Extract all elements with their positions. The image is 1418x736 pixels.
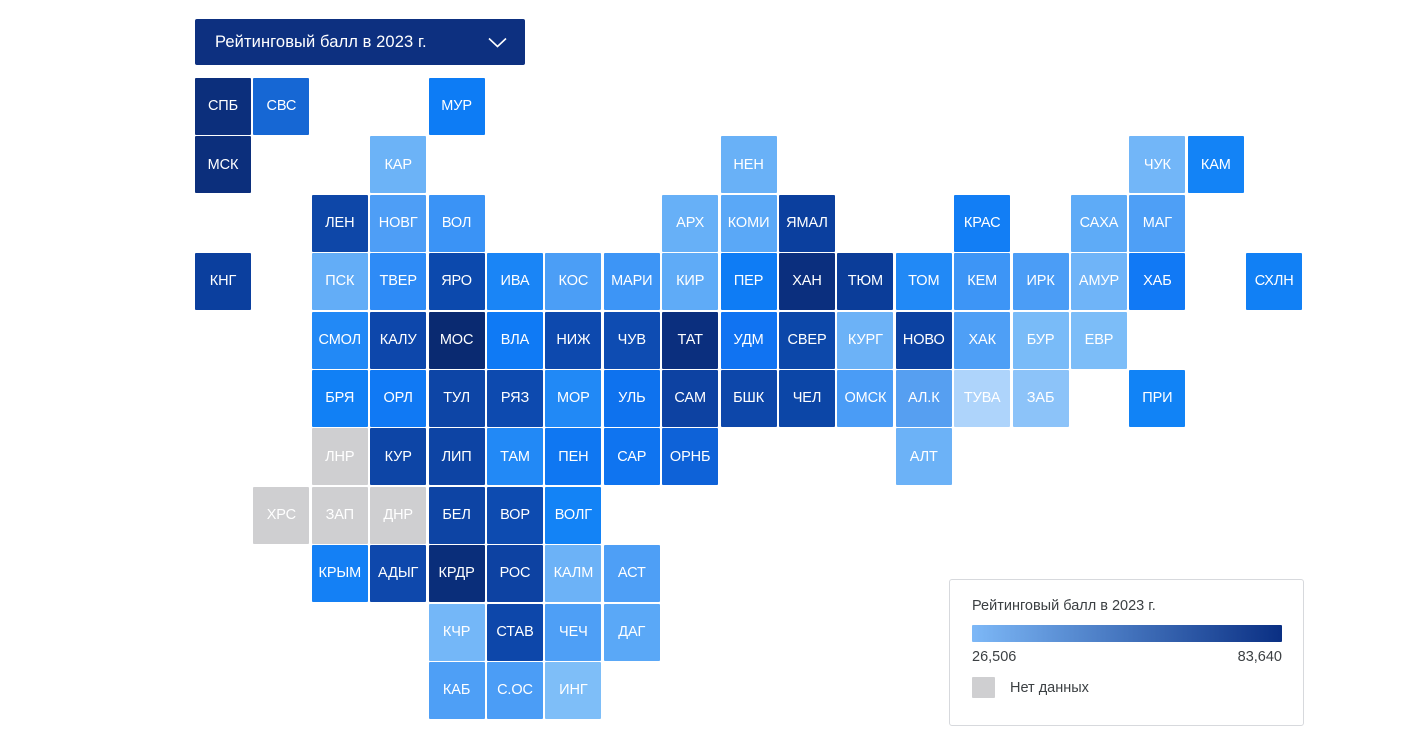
region-tile-МОС[interactable]: МОС bbox=[429, 312, 485, 369]
region-tile-label: ОРЛ bbox=[384, 391, 413, 406]
region-tile-КАЛУ[interactable]: КАЛУ bbox=[370, 312, 426, 369]
region-tile-label: ЧЕЛ bbox=[793, 391, 822, 406]
region-tile-label: ТУЛ bbox=[443, 391, 470, 406]
region-tile-label: ИРК bbox=[1026, 274, 1054, 289]
legend-nodata-swatch bbox=[972, 677, 995, 698]
region-tile-ВОР[interactable]: ВОР bbox=[487, 487, 543, 544]
region-tile-БУР[interactable]: БУР bbox=[1013, 312, 1069, 369]
region-tile-КРЫМ[interactable]: КРЫМ bbox=[312, 545, 368, 602]
region-tile-МОР[interactable]: МОР bbox=[545, 370, 601, 427]
region-tile-label: КУР bbox=[385, 450, 412, 465]
region-tile-label: МАРИ bbox=[611, 274, 652, 289]
region-tile-label: САМ bbox=[674, 391, 706, 406]
region-tile-label: СТАВ bbox=[496, 625, 533, 640]
region-tile-label: ТАТ bbox=[677, 333, 702, 348]
region-tile-label: СВЕР bbox=[787, 333, 826, 348]
region-tile-КОМИ[interactable]: КОМИ bbox=[721, 195, 777, 252]
region-tile-label: ДАГ bbox=[618, 625, 645, 640]
region-tile-label: ИВА bbox=[501, 274, 530, 289]
region-tile-label: КАЛМ bbox=[554, 566, 594, 581]
region-tile-label: РОС bbox=[500, 566, 531, 581]
region-tile-label: ВОР bbox=[500, 508, 530, 523]
legend-min-value: 26,506 bbox=[972, 649, 1016, 665]
region-tile-label: КРЫМ bbox=[318, 566, 361, 581]
region-tile-СПБ[interactable]: СПБ bbox=[195, 78, 251, 135]
region-tile-label: СВС bbox=[266, 99, 296, 114]
region-tile-label: КАБ bbox=[443, 683, 470, 698]
region-tile-ЗАБ[interactable]: ЗАБ bbox=[1013, 370, 1069, 427]
region-tile-label: ДНР bbox=[383, 508, 413, 523]
region-tile-label: ВОЛГ bbox=[555, 508, 592, 523]
region-tile-label: КОМИ bbox=[728, 216, 770, 231]
region-tile-РЯЗ[interactable]: РЯЗ bbox=[487, 370, 543, 427]
region-tile-ХАК[interactable]: ХАК bbox=[954, 312, 1010, 369]
region-tile-label: КОС bbox=[559, 274, 589, 289]
region-tile-ПСК[interactable]: ПСК bbox=[312, 253, 368, 310]
region-tile-СВЕР[interactable]: СВЕР bbox=[779, 312, 835, 369]
region-tile-ЯМАЛ[interactable]: ЯМАЛ bbox=[779, 195, 835, 252]
region-tile-САР[interactable]: САР bbox=[604, 428, 660, 485]
region-tile-С.ОС[interactable]: С.ОС bbox=[487, 662, 543, 719]
legend-max-value: 83,640 bbox=[1238, 649, 1282, 665]
region-tile-label: ВОЛ bbox=[442, 216, 472, 231]
region-tile-label: ТАМ bbox=[500, 450, 530, 465]
region-tile-label: БШК bbox=[733, 391, 764, 406]
region-tile-НОВГ[interactable]: НОВГ bbox=[370, 195, 426, 252]
legend-scale: 26,506 83,640 bbox=[972, 649, 1282, 665]
region-tile-label: МСК bbox=[208, 158, 239, 173]
region-tile-label: МОС bbox=[440, 333, 474, 348]
region-tile-label: КУРГ bbox=[848, 333, 883, 348]
region-tile-label: ЛИП bbox=[442, 450, 472, 465]
legend-nodata: Нет данных bbox=[972, 677, 1281, 698]
region-tile-label: ОМСК bbox=[844, 391, 886, 406]
region-tile-label: БРЯ bbox=[325, 391, 354, 406]
region-tile-label: ИНГ bbox=[559, 683, 587, 698]
region-tile-label: КИР bbox=[676, 274, 704, 289]
region-tile-label: СМОЛ bbox=[318, 333, 361, 348]
region-tile-ХАБ[interactable]: ХАБ bbox=[1129, 253, 1185, 310]
region-tile-СВС[interactable]: СВС bbox=[253, 78, 309, 135]
region-tile-КЕМ[interactable]: КЕМ bbox=[954, 253, 1010, 310]
region-tile-label: ТОМ bbox=[908, 274, 939, 289]
region-tile-ХРС[interactable]: ХРС bbox=[253, 487, 309, 544]
region-tile-ЧУК[interactable]: ЧУК bbox=[1129, 136, 1185, 193]
region-tile-label: МАГ bbox=[1143, 216, 1172, 231]
region-tile-ЧЕЛ[interactable]: ЧЕЛ bbox=[779, 370, 835, 427]
chevron-down-icon bbox=[488, 37, 507, 48]
region-tile-label: ХАК bbox=[968, 333, 996, 348]
region-tile-label: УЛЬ bbox=[618, 391, 645, 406]
region-tile-КАМ[interactable]: КАМ bbox=[1188, 136, 1244, 193]
region-tile-label: РЯЗ bbox=[501, 391, 529, 406]
region-tile-label: ЛЕН bbox=[325, 216, 354, 231]
region-tile-label: КАЛУ bbox=[380, 333, 417, 348]
region-tile-label: УДМ bbox=[734, 333, 764, 348]
region-tile-ВОЛ[interactable]: ВОЛ bbox=[429, 195, 485, 252]
map-legend: Рейтинговый балл в 2023 г. 26,506 83,640… bbox=[949, 579, 1304, 726]
region-tile-АМУР[interactable]: АМУР bbox=[1071, 253, 1127, 310]
region-tile-МСК[interactable]: МСК bbox=[195, 136, 251, 193]
region-tile-ТУЛ[interactable]: ТУЛ bbox=[429, 370, 485, 427]
region-tile-КУР[interactable]: КУР bbox=[370, 428, 426, 485]
region-tile-ОРНБ[interactable]: ОРНБ bbox=[662, 428, 718, 485]
region-tile-ИВА[interactable]: ИВА bbox=[487, 253, 543, 310]
region-tile-label: ТВЕР bbox=[379, 274, 416, 289]
region-tile-label: ПРИ bbox=[1142, 391, 1172, 406]
region-tile-ТАМ[interactable]: ТАМ bbox=[487, 428, 543, 485]
region-tile-ЗАП[interactable]: ЗАП bbox=[312, 487, 368, 544]
region-tile-label: С.ОС bbox=[497, 683, 533, 698]
region-tile-АЛ.К[interactable]: АЛ.К bbox=[896, 370, 952, 427]
region-tile-label: ТЮМ bbox=[848, 274, 883, 289]
region-tile-ТАТ[interactable]: ТАТ bbox=[662, 312, 718, 369]
region-tile-КИР[interactable]: КИР bbox=[662, 253, 718, 310]
region-tile-САМ[interactable]: САМ bbox=[662, 370, 718, 427]
region-tile-label: КАМ bbox=[1201, 158, 1231, 173]
region-tile-ДНР[interactable]: ДНР bbox=[370, 487, 426, 544]
region-tile-label: ПЕН bbox=[558, 450, 588, 465]
region-tile-label: БЕЛ bbox=[442, 508, 470, 523]
region-tile-label: ВЛА bbox=[501, 333, 529, 348]
region-tile-ПЕН[interactable]: ПЕН bbox=[545, 428, 601, 485]
metric-dropdown-label: Рейтинговый балл в 2023 г. bbox=[215, 33, 427, 52]
region-tile-БЕЛ[interactable]: БЕЛ bbox=[429, 487, 485, 544]
region-tile-ТУВА[interactable]: ТУВА bbox=[954, 370, 1010, 427]
region-tile-label: НОВГ bbox=[379, 216, 418, 231]
region-tile-label: ХАН bbox=[792, 274, 822, 289]
region-tile-label: ХРС bbox=[267, 508, 296, 523]
region-tile-label: ЯМАЛ bbox=[786, 216, 828, 231]
region-tile-ИРК[interactable]: ИРК bbox=[1013, 253, 1069, 310]
region-tile-ЕВР[interactable]: ЕВР bbox=[1071, 312, 1127, 369]
region-tile-МУР[interactable]: МУР bbox=[429, 78, 485, 135]
region-tile-КОС[interactable]: КОС bbox=[545, 253, 601, 310]
region-tile-НЕН[interactable]: НЕН bbox=[721, 136, 777, 193]
region-tile-label: ПСК bbox=[325, 274, 354, 289]
region-tile-label: НОВО bbox=[903, 333, 945, 348]
region-tile-БРЯ[interactable]: БРЯ bbox=[312, 370, 368, 427]
region-tile-label: ЗАБ bbox=[1027, 391, 1055, 406]
legend-nodata-label: Нет данных bbox=[1010, 680, 1089, 696]
region-tile-label: КРДР bbox=[438, 566, 474, 581]
region-tile-label: АЛ.К bbox=[908, 391, 940, 406]
legend-title: Рейтинговый балл в 2023 г. bbox=[972, 598, 1281, 614]
region-tile-ТВЕР[interactable]: ТВЕР bbox=[370, 253, 426, 310]
region-tile-ОМСК[interactable]: ОМСК bbox=[837, 370, 893, 427]
region-tile-ПЕР[interactable]: ПЕР bbox=[721, 253, 777, 310]
region-tile-КАЛМ[interactable]: КАЛМ bbox=[545, 545, 601, 602]
region-tile-label: ЧУВ bbox=[618, 333, 646, 348]
region-tile-label: СПБ bbox=[208, 99, 238, 114]
region-tile-КРАС[interactable]: КРАС bbox=[954, 195, 1010, 252]
region-tile-ЯРО[interactable]: ЯРО bbox=[429, 253, 485, 310]
region-tile-label: АСТ bbox=[618, 566, 646, 581]
region-tile-РОС[interactable]: РОС bbox=[487, 545, 543, 602]
region-tile-СТАВ[interactable]: СТАВ bbox=[487, 604, 543, 661]
region-tile-ЧУВ[interactable]: ЧУВ bbox=[604, 312, 660, 369]
region-tile-АРХ[interactable]: АРХ bbox=[662, 195, 718, 252]
region-tile-ИНГ[interactable]: ИНГ bbox=[545, 662, 601, 719]
region-tile-label: АЛТ bbox=[910, 450, 938, 465]
region-tile-КУРГ[interactable]: КУРГ bbox=[837, 312, 893, 369]
region-tile-label: КНГ bbox=[210, 274, 236, 289]
region-tile-label: АДЫГ bbox=[378, 566, 418, 581]
region-tile-КАР[interactable]: КАР bbox=[370, 136, 426, 193]
region-tile-label: ЕВР bbox=[1085, 333, 1114, 348]
region-tile-ЧЕЧ[interactable]: ЧЕЧ bbox=[545, 604, 601, 661]
region-tile-БШК[interactable]: БШК bbox=[721, 370, 777, 427]
region-tile-label: БУР bbox=[1027, 333, 1055, 348]
region-tile-label: КРАС bbox=[964, 216, 1001, 231]
region-tile-label: САХА bbox=[1080, 216, 1119, 231]
region-tile-ВОЛГ[interactable]: ВОЛГ bbox=[545, 487, 601, 544]
region-tile-САХА[interactable]: САХА bbox=[1071, 195, 1127, 252]
region-tile-label: КЧР bbox=[443, 625, 470, 640]
region-tile-ВЛА[interactable]: ВЛА bbox=[487, 312, 543, 369]
region-tile-АСТ[interactable]: АСТ bbox=[604, 545, 660, 602]
region-tile-ТОМ[interactable]: ТОМ bbox=[896, 253, 952, 310]
region-tile-ОРЛ[interactable]: ОРЛ bbox=[370, 370, 426, 427]
region-tile-СМОЛ[interactable]: СМОЛ bbox=[312, 312, 368, 369]
region-tile-label: ЗАП bbox=[326, 508, 354, 523]
region-tile-label: САР bbox=[617, 450, 646, 465]
region-tile-label: КЕМ bbox=[967, 274, 997, 289]
region-tile-label: НИЖ bbox=[556, 333, 590, 348]
region-tile-label: СХЛН bbox=[1255, 274, 1294, 289]
region-tile-ЛИП[interactable]: ЛИП bbox=[429, 428, 485, 485]
metric-dropdown[interactable]: Рейтинговый балл в 2023 г. bbox=[195, 19, 525, 65]
region-tile-ДАГ[interactable]: ДАГ bbox=[604, 604, 660, 661]
region-tile-ЛНР[interactable]: ЛНР bbox=[312, 428, 368, 485]
region-tile-ПРИ[interactable]: ПРИ bbox=[1129, 370, 1185, 427]
region-tile-label: ЛНР bbox=[325, 450, 354, 465]
region-tile-label: ПЕР bbox=[734, 274, 763, 289]
region-tile-УЛЬ[interactable]: УЛЬ bbox=[604, 370, 660, 427]
region-tile-label: КАР bbox=[384, 158, 412, 173]
region-tile-ТЮМ[interactable]: ТЮМ bbox=[837, 253, 893, 310]
region-tile-КЧР[interactable]: КЧР bbox=[429, 604, 485, 661]
region-tile-КАБ[interactable]: КАБ bbox=[429, 662, 485, 719]
legend-gradient-bar bbox=[972, 625, 1282, 642]
region-tile-МАРИ[interactable]: МАРИ bbox=[604, 253, 660, 310]
region-tile-label: ЧЕЧ bbox=[559, 625, 588, 640]
region-tile-label: ЯРО bbox=[441, 274, 472, 289]
region-tile-НОВО[interactable]: НОВО bbox=[896, 312, 952, 369]
region-tile-ХАН[interactable]: ХАН bbox=[779, 253, 835, 310]
region-tile-ЛЕН[interactable]: ЛЕН bbox=[312, 195, 368, 252]
region-tile-АДЫГ[interactable]: АДЫГ bbox=[370, 545, 426, 602]
region-tile-label: НЕН bbox=[733, 158, 763, 173]
region-tile-label: ЧУК bbox=[1144, 158, 1171, 173]
region-tile-КНГ[interactable]: КНГ bbox=[195, 253, 251, 310]
region-tile-КРДР[interactable]: КРДР bbox=[429, 545, 485, 602]
region-tile-label: ХАБ bbox=[1143, 274, 1172, 289]
region-tile-МАГ[interactable]: МАГ bbox=[1129, 195, 1185, 252]
region-tile-label: АМУР bbox=[1079, 274, 1119, 289]
region-tile-УДМ[interactable]: УДМ bbox=[721, 312, 777, 369]
region-tile-label: МОР bbox=[557, 391, 590, 406]
region-tile-label: ОРНБ bbox=[670, 450, 711, 465]
region-tile-label: АРХ bbox=[676, 216, 704, 231]
region-tile-АЛТ[interactable]: АЛТ bbox=[896, 428, 952, 485]
region-tile-НИЖ[interactable]: НИЖ bbox=[545, 312, 601, 369]
region-tile-СХЛН[interactable]: СХЛН bbox=[1246, 253, 1302, 310]
region-tile-label: ТУВА bbox=[964, 391, 1001, 406]
region-tile-label: МУР bbox=[441, 99, 472, 114]
